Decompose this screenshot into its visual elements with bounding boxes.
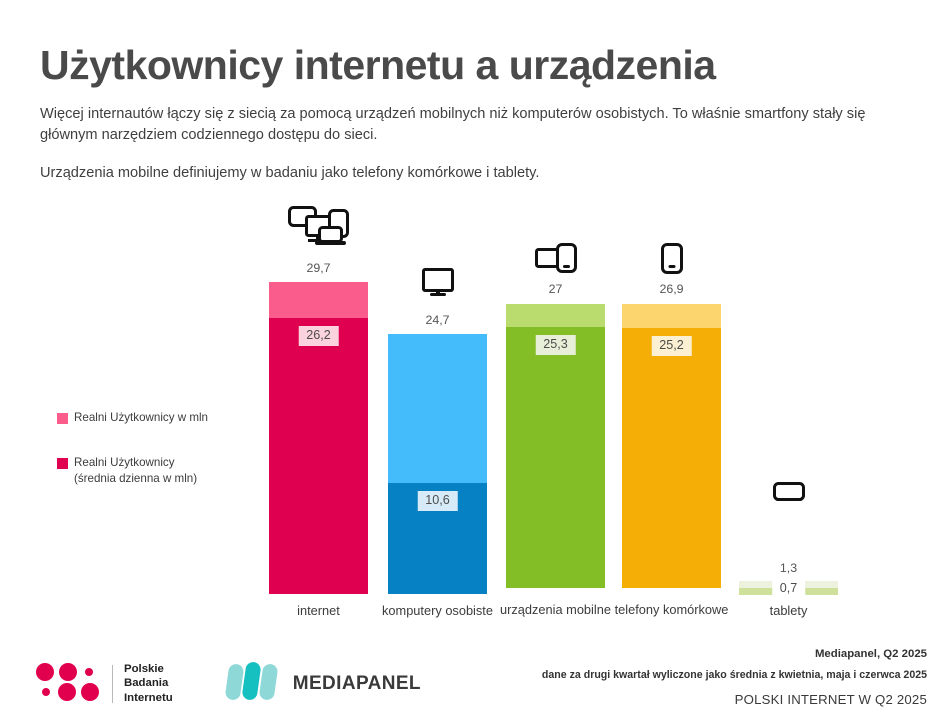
mediapanel-logo: MEDIAPANEL	[225, 660, 421, 707]
bar-group-tablety[interactable]: 1,3 0,7 tablety	[739, 480, 838, 650]
bar-category-tablety: tablety	[714, 603, 864, 619]
legend-swatch-daily-icon	[57, 458, 68, 469]
bar-segment-mobilne-daily	[506, 327, 605, 588]
bar-stack-tablety: 0,7	[739, 581, 838, 595]
bar-value-telefony-daily: 25,2	[651, 336, 692, 356]
pbi-logo: Polskie Badania Internetu	[34, 661, 173, 706]
logo-divider	[112, 665, 113, 703]
bar-toplabel-komputery: 24,7	[425, 313, 449, 327]
bar-toplabel-mobilne: 27	[549, 282, 563, 296]
bar-group-telefony-komorkowe[interactable]: 26,9 25,2 telefony komórkowe	[622, 243, 721, 648]
page-title: Użytkownicy internetu a urządzenia	[40, 44, 920, 87]
footer-notes: Mediapanel, Q2 2025 dane za drugi kwarta…	[542, 648, 927, 707]
footer-source: Mediapanel, Q2 2025	[542, 648, 927, 660]
bar-segment-internet-daily	[269, 318, 368, 594]
pbi-logo-text: Polskie Badania Internetu	[124, 662, 173, 704]
mediapanel-logo-text: MEDIAPANEL	[293, 673, 421, 695]
tablet-phone-icon	[535, 243, 577, 280]
bar-value-tablety-daily: 0,7	[772, 579, 806, 599]
legend-item-total[interactable]: Realni Użytkownicy w mln	[57, 410, 257, 425]
bar-stack-komputery: 10,6	[388, 334, 487, 594]
bar-toplabel-tablety: 1,3	[780, 561, 797, 575]
bar-stack-internet: 26,2	[269, 282, 368, 594]
bar-group-urzadzenia-mobilne[interactable]: 27 25,3 urządzenia mobilne	[506, 243, 605, 648]
legend-label-daily: Realni Użytkownicy (średnia dzienna w ml…	[74, 455, 197, 486]
footer-logos: Polskie Badania Internetu MEDIAPANEL	[34, 660, 421, 707]
page-subtitle-secondary: Urządzenia mobilne definiujemy w badaniu…	[40, 163, 920, 184]
footer-campaign-title: POLSKI INTERNET W Q2 2025	[542, 692, 927, 707]
bar-toplabel-internet: 29,7	[306, 261, 330, 275]
footer-methodology-note: dane za drugi kwartał wyliczone jako śre…	[542, 669, 927, 681]
bar-value-komputery-daily: 10,6	[417, 491, 458, 511]
chart-legend: Realni Użytkownicy w mln Realni Użytkown…	[57, 410, 257, 516]
devices-cluster-icon	[288, 205, 350, 252]
bar-toplabel-telefony: 26,9	[659, 282, 683, 296]
mediapanel-mark-icon	[225, 660, 283, 707]
legend-label-total: Realni Użytkownicy w mln	[74, 410, 208, 425]
legend-item-daily[interactable]: Realni Użytkownicy (średnia dzienna w ml…	[57, 455, 257, 486]
bar-stack-telefony: 25,2	[622, 304, 721, 588]
bar-segment-telefony-daily	[622, 328, 721, 588]
bar-group-komputery-osobiste[interactable]: 24,7 10,6 komputery osobiste	[388, 268, 487, 648]
smartphone-icon	[661, 243, 683, 280]
page-subtitle: Więcej internautów łączy się z siecią za…	[40, 104, 920, 146]
tablet-icon	[773, 480, 805, 509]
bar-stack-mobilne: 25,3	[506, 304, 605, 588]
pbi-dots-icon	[34, 661, 102, 706]
legend-swatch-total-icon	[57, 413, 68, 424]
desktop-monitor-icon	[422, 268, 454, 303]
bar-group-internet[interactable]: 29,7 26,2 internet	[269, 205, 368, 645]
bar-value-mobilne-daily: 25,3	[535, 335, 576, 355]
bar-value-internet-daily: 26,2	[298, 326, 339, 346]
page-header: Użytkownicy internetu a urządzenia Więce…	[40, 44, 920, 185]
